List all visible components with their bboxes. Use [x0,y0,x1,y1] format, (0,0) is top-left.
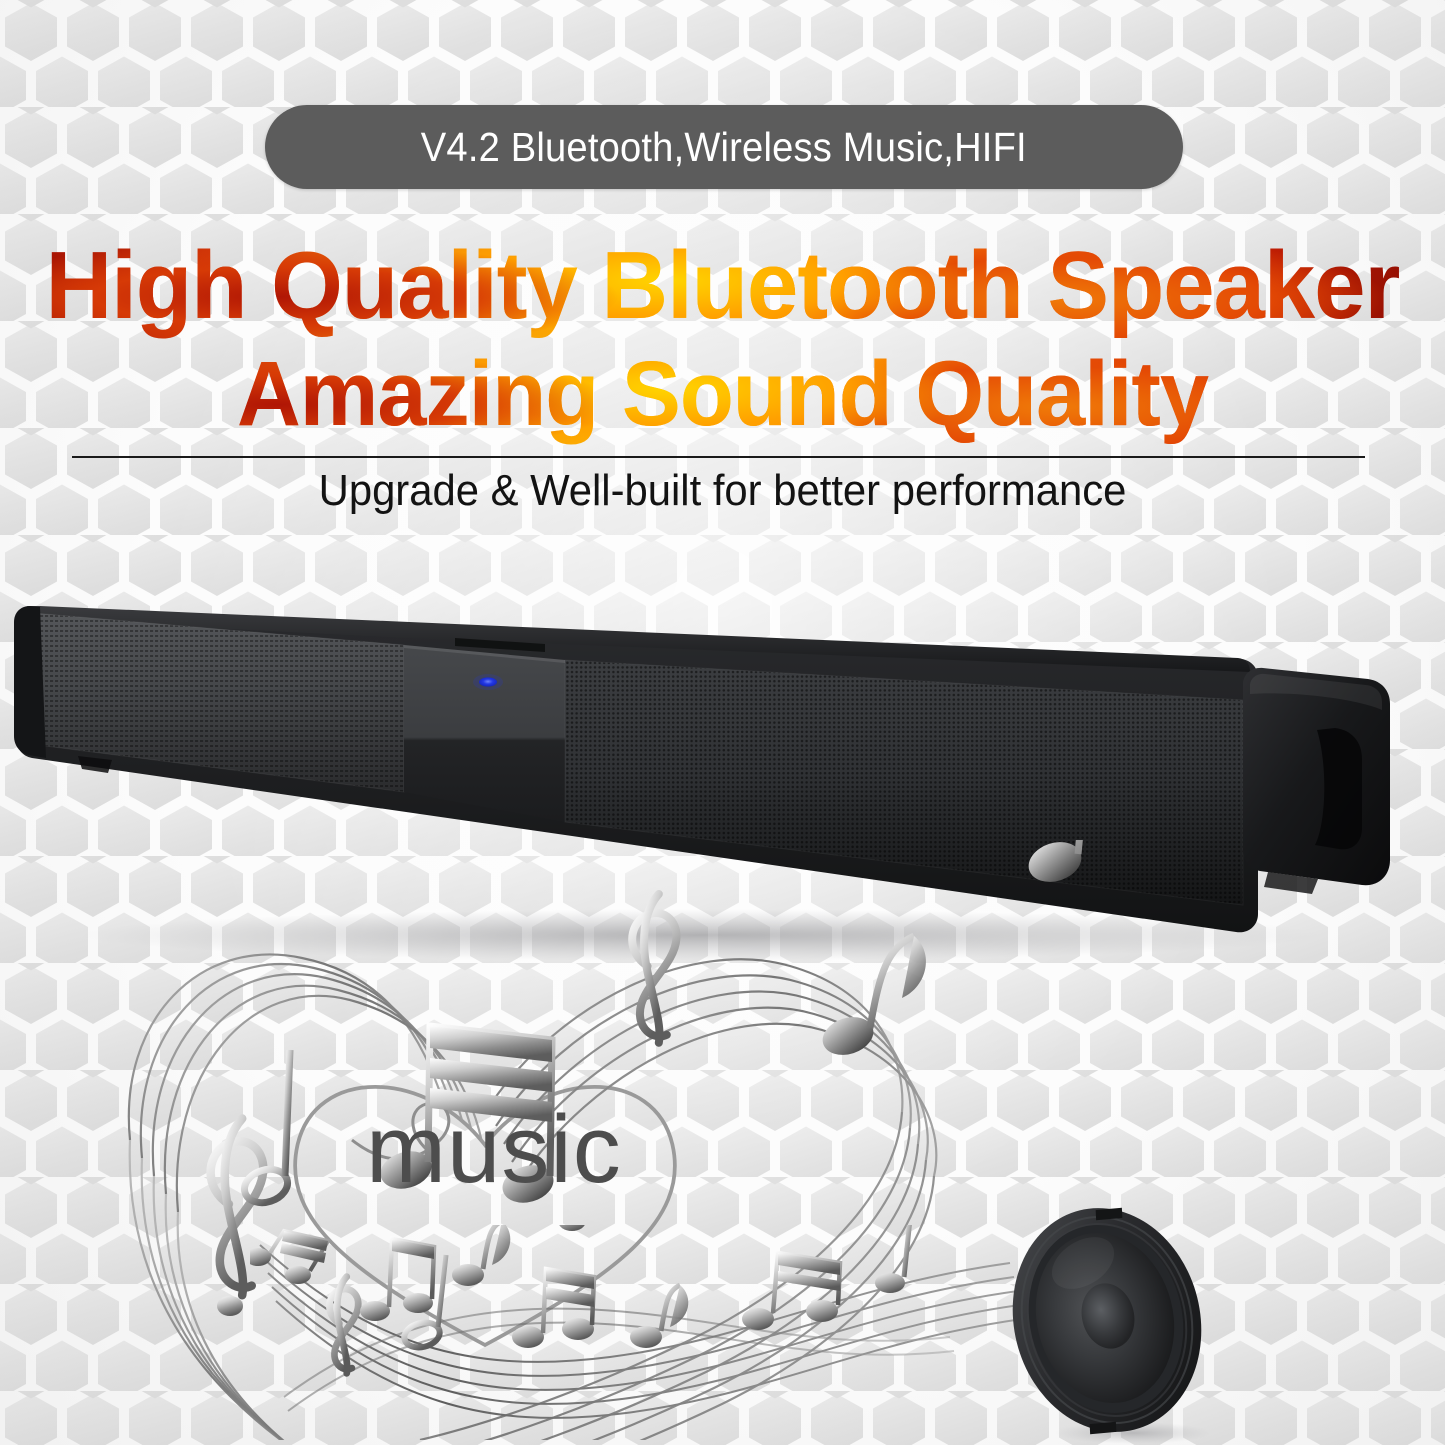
note-group-left [250,1231,328,1284]
headline-divider [72,456,1365,458]
treble-clef-right [632,894,676,1043]
subtitle-text: Upgrade & Well-built for better performa… [36,466,1409,516]
music-wordmark: music [366,1095,622,1205]
soundbar-control-panel [404,638,565,822]
product-banner-canvas: V4.2 Bluetooth,Wireless Music,HIFI High … [0,0,1445,1445]
note-cluster-upper-right [1023,840,1150,914]
music-staff-lower [250,1225,1020,1445]
note-single-far-right [875,1225,910,1293]
note-single-upper-left [240,1050,292,1208]
note-top-right-dot [558,1225,586,1231]
speaker-driver-image [1005,1185,1260,1445]
clef-dot-upper [217,1296,243,1316]
soundbar-right-endcap [1243,668,1390,885]
note-group-midleft [360,1239,434,1321]
note-single-right [818,936,926,1061]
feature-banner-pill: V4.2 Bluetooth,Wireless Music,HIFI [265,105,1183,189]
note-eighth-center [452,1225,510,1286]
feature-banner-text: V4.2 Bluetooth,Wireless Music,HIFI [421,124,1027,171]
note-group-right [742,1253,840,1330]
